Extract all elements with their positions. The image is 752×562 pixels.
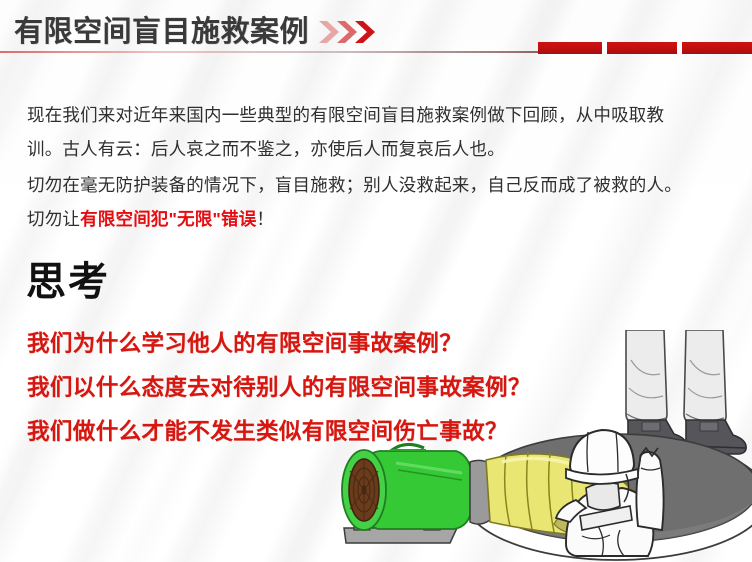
header-bar-2: [607, 42, 677, 54]
green-ventilation-blower-group: [342, 444, 490, 543]
header-bar-3: [682, 42, 752, 54]
paragraph-1-line-2: 训。古人有云：后人哀之而不鉴之，亦使后人而复哀后人也。: [27, 132, 727, 166]
double-chevron-right-icon: [318, 20, 380, 44]
paragraph-2-line-1: 切勿在毫无防护装备的情况下，盲目施救；别人没救起来，自己反而成了被救的人。: [27, 168, 727, 202]
slide-header: 有限空间盲目施救案例: [0, 0, 752, 56]
think-section-heading: 思考: [26, 258, 110, 306]
header-bar-1: [538, 42, 602, 54]
paragraph-1-line-1: 现在我们来对近年来国内一些典型的有限空间盲目施救案例做下回顾，从中吸取教: [27, 98, 727, 132]
header-accent-bars: [538, 42, 752, 54]
page-title: 有限空间盲目施救案例: [14, 8, 309, 50]
header-divider-line: [0, 51, 538, 53]
body-copy: 现在我们来对近年来国内一些典型的有限空间盲目施救案例做下回顾，从中吸取教 训。古…: [27, 98, 727, 236]
paragraph-2-prefix: 切勿让: [27, 209, 80, 229]
paragraph-2-highlight: 有限空间犯"无限"错误: [80, 209, 256, 229]
slide-canvas: 有限空间盲目施救案例 现在我们来对近年来国内一些典型的有限空间盲目施救案例做下回…: [0, 0, 752, 562]
paragraph-2-line-2: 切勿让有限空间犯"无限"错误！: [27, 202, 727, 236]
confined-space-illustration: [330, 330, 752, 562]
paragraph-2-suffix: ！: [256, 209, 274, 229]
